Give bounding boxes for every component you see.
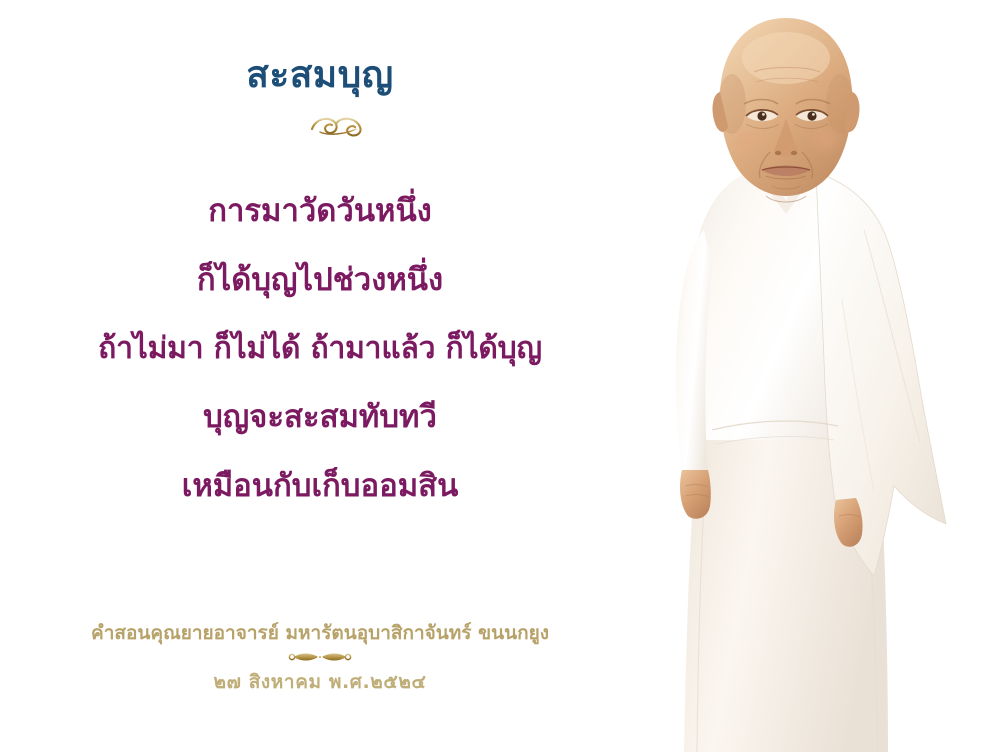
attribution-text: คำสอนคุณยายอาจารย์ มหารัตนอุบาสิกาจันทร์…: [0, 622, 640, 645]
verse-block: การมาวัดวันหนึ่ง ก็ได้บุญไปช่วงหนึ่ง ถ้า…: [0, 196, 640, 502]
title-block: สะสมบุญ: [0, 52, 640, 98]
verse-line-5: เหมือนกับเก็บออมสิน: [0, 471, 640, 502]
verse-line-3: ถ้าไม่มา ก็ไม่ได้ ถ้ามาแล้ว ก็ได้บุญ: [0, 334, 640, 364]
page-title: สะสมบุญ: [0, 52, 640, 98]
verse-line-1: การมาวัดวันหนึ่ง: [0, 196, 640, 227]
swirl-flourish-divider-icon: [160, 112, 520, 140]
portrait-photo: [620, 0, 992, 752]
verse-line-4: บุญจะสะสมทับทวี: [0, 402, 640, 433]
text-column: สะสมบุญ: [0, 0, 640, 752]
date-text: ๒๗ สิงหาคม พ.ศ.๒๕๒๔: [0, 667, 640, 697]
quote-slide: สะสมบุญ: [0, 0, 992, 752]
elderly-nun-portrait-image: [620, 0, 992, 752]
double-scroll-ornament-divider-icon: [140, 648, 500, 666]
title-divider: [160, 112, 520, 140]
footer-divider: [140, 648, 500, 666]
verse-line-2: ก็ได้บุญไปช่วงหนึ่ง: [0, 265, 640, 296]
footer-block: คำสอนคุณยายอาจารย์ มหารัตนอุบาสิกาจันทร์…: [0, 622, 640, 697]
